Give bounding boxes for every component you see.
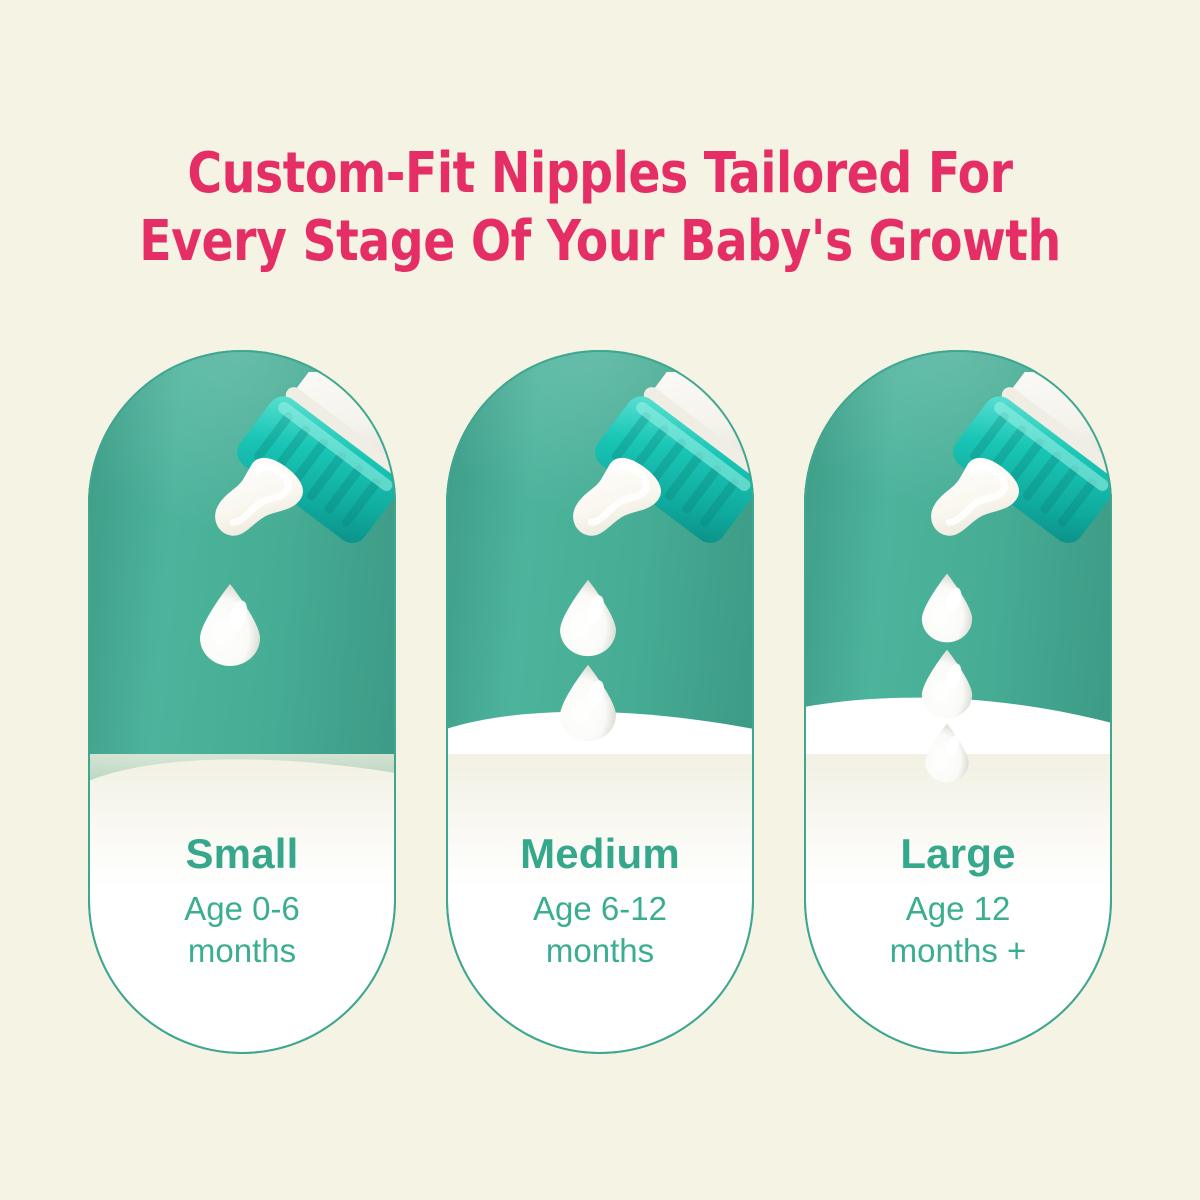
card-size-label: Medium xyxy=(446,830,754,878)
card-age-line-1: Age 0-6 xyxy=(88,888,396,930)
card-label-small: Small Age 0-6 months xyxy=(88,830,396,972)
card-age-line-2: months xyxy=(446,930,754,972)
card-age-line-1: Age 12 xyxy=(804,888,1112,930)
page-title-line-2: Every Stage Of Your Baby's Growth xyxy=(36,208,1164,276)
card-label-medium: Medium Age 6-12 months xyxy=(446,830,754,972)
nipple-size-card-large[interactable]: Large Age 12 months + xyxy=(804,350,1112,1054)
nipple-size-card-small[interactable]: Small Age 0-6 months xyxy=(88,350,396,1054)
card-age-line-2: months xyxy=(88,930,396,972)
wave-divider-icon xyxy=(804,689,1112,759)
card-age-line-1: Age 6-12 xyxy=(446,888,754,930)
wave-divider-icon xyxy=(88,751,396,821)
page-title-line-1: Custom-Fit Nipples Tailored For xyxy=(36,140,1164,208)
card-size-label: Small xyxy=(88,830,396,878)
card-teal-panel xyxy=(88,350,396,820)
card-label-large: Large Age 12 months + xyxy=(804,830,1112,972)
page-title: Custom-Fit Nipples Tailored For Every St… xyxy=(0,140,1200,276)
infographic-page: { "title": { "line1": "Custom-Fit Nipple… xyxy=(0,0,1200,1200)
nipple-size-card-row: Small Age 0-6 months xyxy=(88,350,1112,1054)
card-age-line-2: months + xyxy=(804,930,1112,972)
card-teal-panel xyxy=(804,350,1112,758)
wave-divider-icon xyxy=(446,703,754,773)
card-teal-panel xyxy=(446,350,754,772)
nipple-size-card-medium[interactable]: Medium Age 6-12 months xyxy=(446,350,754,1054)
card-size-label: Large xyxy=(804,830,1112,878)
